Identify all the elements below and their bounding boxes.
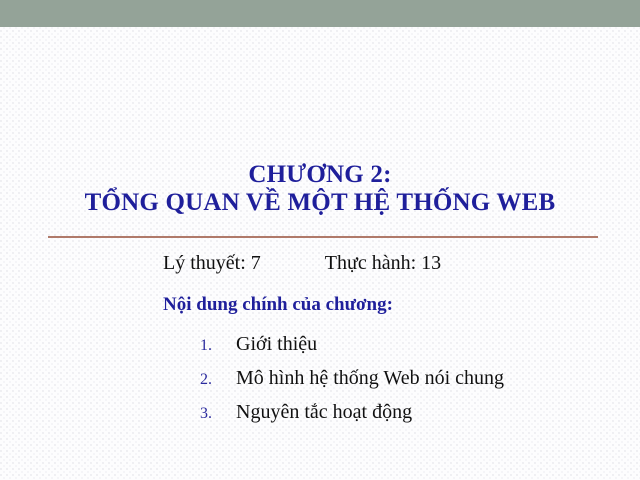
list-item-label: Giới thiệu [236,333,317,356]
course-hours-row: Lý thuyết: 7 Thực hành: 13 [163,252,583,275]
practice-hours-label: Thực hành: 13 [325,252,441,275]
chapter-contents-heading: Nội dung chính của chương: [163,294,393,316]
list-item: 3. Nguyên tắc hoạt động [200,401,630,435]
theory-hours-label: Lý thuyết: 7 [163,252,261,275]
list-item-label: Mô hình hệ thống Web nói chung [236,367,504,390]
list-item: 1. Giới thiệu [200,333,630,367]
title-divider-rule [48,236,598,238]
list-item-number: 1. [200,337,236,355]
slide-header-band [0,0,640,27]
list-item-number: 3. [200,405,236,423]
chapter-topic-list: 1. Giới thiệu 2. Mô hình hệ thống Web nó… [200,333,630,435]
list-item-number: 2. [200,371,236,389]
slide-canvas: CHƯƠNG 2: TỔNG QUAN VỀ MỘT HỆ THỐNG WEB … [0,0,640,480]
list-item-label: Nguyên tắc hoạt động [236,401,412,424]
slide-title-line-2: TỔNG QUAN VỀ MỘT HỆ THỐNG WEB [0,189,640,217]
slide-title-block: CHƯƠNG 2: TỔNG QUAN VỀ MỘT HỆ THỐNG WEB [0,161,640,217]
slide-title-line-1: CHƯƠNG 2: [0,161,640,189]
list-item: 2. Mô hình hệ thống Web nói chung [200,367,630,401]
